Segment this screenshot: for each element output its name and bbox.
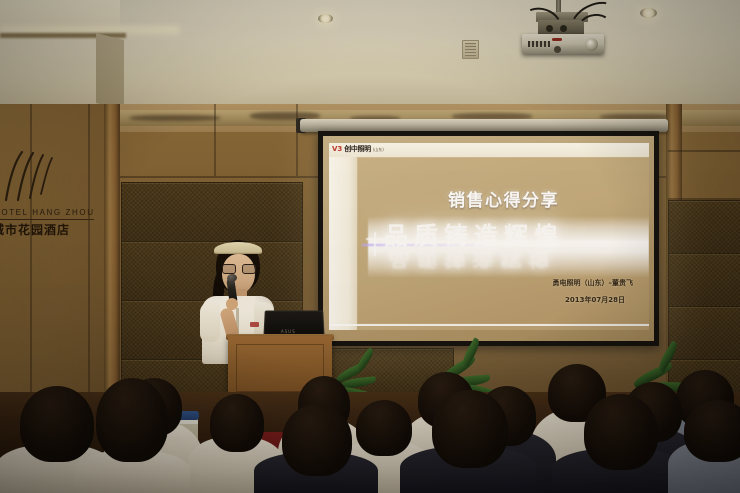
conference-room-photo: HOTEL HANG ZHOU 城市花园酒店 V3 创中照明 (山东) xyxy=(0,0,740,493)
slide-content-area: 品质铸造辉煌 品质铸造辉煌 销售心得分享 勇电照明（山东）–董贵飞 2013年0… xyxy=(358,158,649,323)
slide-brand-header: V3 创中照明 (山东) xyxy=(332,144,384,155)
slide-brand-v3: V3 xyxy=(332,146,342,153)
wood-panel-seam xyxy=(296,104,298,176)
wood-panel-seam xyxy=(668,150,740,152)
slide-date: 2013年07月28日 xyxy=(425,295,625,305)
projector-body xyxy=(522,34,604,54)
audience-head xyxy=(584,394,658,470)
wood-panel-seam xyxy=(88,104,90,404)
projected-slide: V3 创中照明 (山东) 品质铸造辉煌 品质铸造辉煌 销售心得分享 勇电照明（山… xyxy=(329,143,649,330)
slide-photo-pole xyxy=(374,232,376,256)
glasses-icon xyxy=(222,264,255,272)
wall-pilaster xyxy=(104,104,120,404)
audience-head xyxy=(356,400,412,456)
slide-presenter-line: 勇电照明（山东）–董贵飞 xyxy=(433,278,633,288)
hotel-sign-english: HOTEL HANG ZHOU xyxy=(0,208,100,217)
projection-screen: V3 创中照明 (山东) 品质铸造辉煌 品质铸造辉煌 销售心得分享 勇电照明（山… xyxy=(318,131,659,346)
audience-head xyxy=(210,394,264,452)
hotel-swoosh-icon xyxy=(2,150,64,204)
presenter-sleeve-left xyxy=(200,302,220,342)
hotel-sign-chinese: 城市花园酒店 xyxy=(0,221,98,238)
hotel-sign-divider xyxy=(0,219,94,220)
audience-head xyxy=(684,400,740,462)
projector-indicator-light xyxy=(552,38,562,41)
audience-head xyxy=(282,404,352,476)
slide-photo-pole-arm xyxy=(366,238,386,240)
presenter-hand xyxy=(226,298,238,310)
audience-head xyxy=(432,390,508,468)
wood-panel-seam xyxy=(214,104,216,176)
slide-bottom-edge xyxy=(329,324,649,326)
slide-glow-text-reflection: 品质铸造辉煌 xyxy=(388,253,624,274)
wood-panel-seam xyxy=(30,104,32,404)
recessed-downlight xyxy=(318,14,333,23)
slide-left-margin xyxy=(329,143,357,330)
water-bottle-label-ring xyxy=(178,420,198,424)
presenter-headband xyxy=(214,242,262,254)
slide-title: 销售心得分享 xyxy=(358,186,649,211)
presenter-shirt-logo xyxy=(250,322,259,327)
ceiling xyxy=(0,0,740,112)
audience-head xyxy=(96,378,168,462)
projector-knob xyxy=(554,46,561,53)
acoustic-wall-panel xyxy=(121,182,303,242)
slide-brand-suffix: (山东) xyxy=(373,147,384,153)
projector-lens xyxy=(585,38,598,51)
hotel-wall-sign: HOTEL HANG ZHOU 城市花园酒店 xyxy=(0,150,104,242)
ceiling-air-vent xyxy=(462,40,479,59)
projection-screen-surface: V3 创中照明 (山东) 品质铸造辉煌 品质铸造辉煌 销售心得分享 勇电照明（山… xyxy=(323,136,654,341)
audience-head xyxy=(20,386,94,462)
ceiling-projector xyxy=(508,0,628,62)
recessed-downlight xyxy=(640,8,657,18)
soffit-drop xyxy=(96,33,124,110)
acoustic-wall-panel xyxy=(668,200,740,254)
slide-glow-text: 品质铸造辉煌 xyxy=(384,216,624,246)
acoustic-wall-panel xyxy=(668,253,740,307)
wall-left-wood-panel xyxy=(0,104,112,404)
slide-brand-chinese: 创中照明 xyxy=(344,146,370,153)
